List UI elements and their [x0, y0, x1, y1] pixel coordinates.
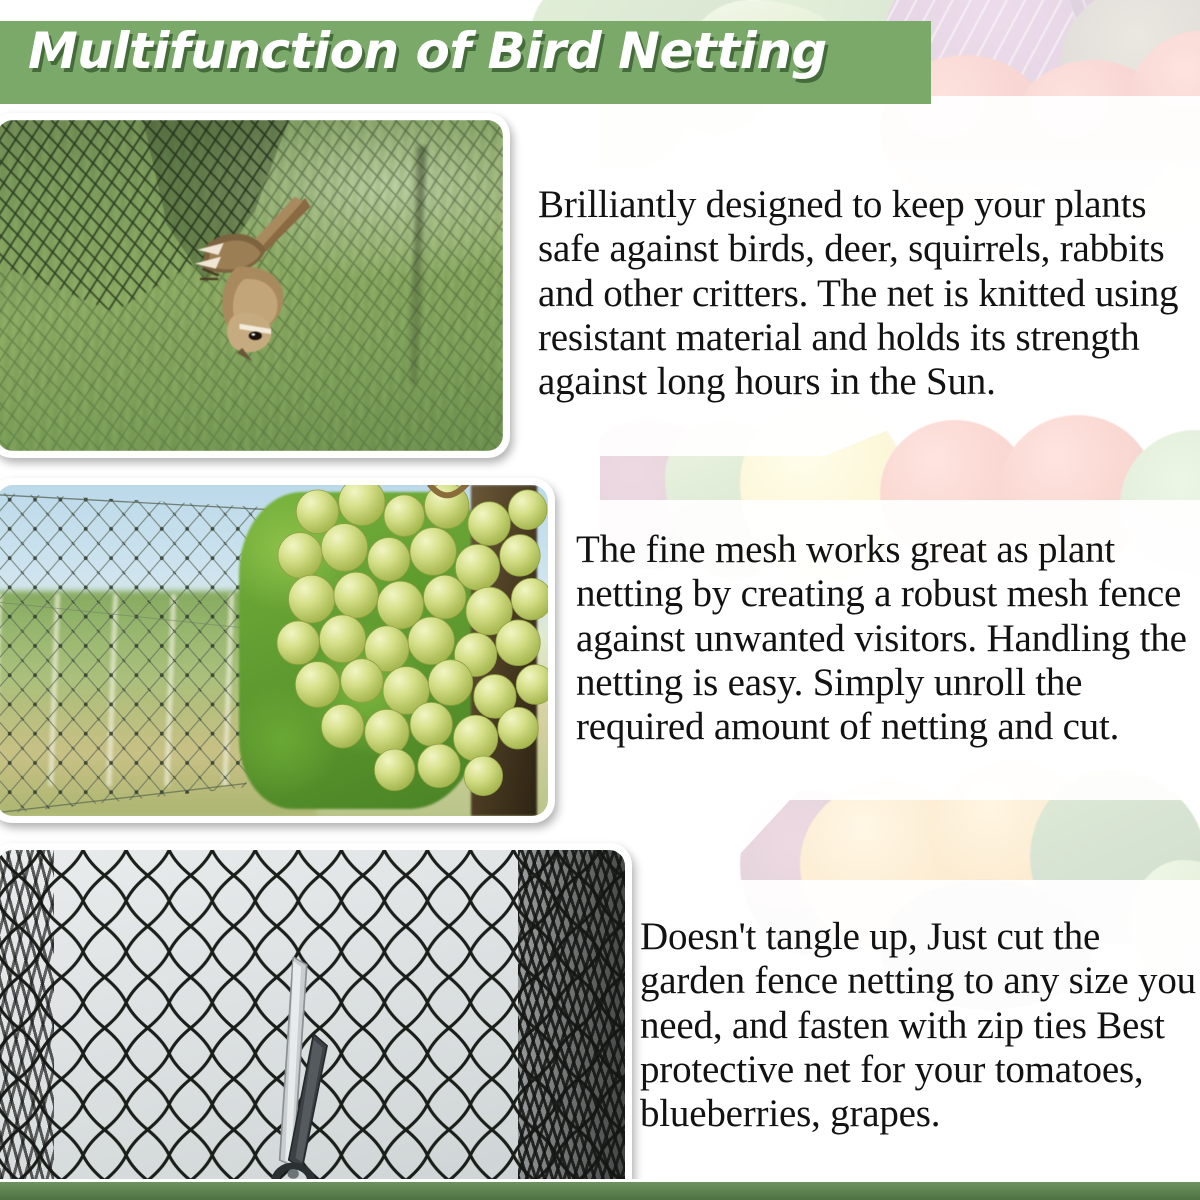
bunched-netting-left	[0, 850, 54, 1200]
photo-frame	[0, 850, 625, 1200]
product-infographic: Multifunction of Bird Netting	[0, 0, 1200, 1200]
photo-frame	[0, 485, 548, 816]
feature-3-description: Doesn't tangle up, Just cut the garden f…	[640, 915, 1200, 1136]
page-title: Multifunction of Bird Netting	[28, 26, 827, 76]
mesh-cutting-scene	[0, 850, 625, 1200]
bunched-netting-right	[518, 850, 625, 1200]
bird-illustration	[179, 193, 311, 365]
bird-netting-scene	[0, 120, 503, 451]
footer-strip	[0, 1182, 1200, 1200]
feature-image-bird-in-netting	[0, 113, 510, 458]
green-grape-cluster	[250, 485, 548, 816]
photo-frame	[0, 120, 503, 451]
feature-2-description: The fine mesh works great as plant netti…	[576, 528, 1200, 749]
scissors-icon	[248, 957, 361, 1200]
vineyard-netting-scene	[0, 485, 548, 816]
feature-1-description: Brilliantly designed to keep your plants…	[538, 183, 1200, 404]
feature-image-vineyard-netting	[0, 478, 555, 823]
feature-image-cutting-netting	[0, 843, 632, 1200]
